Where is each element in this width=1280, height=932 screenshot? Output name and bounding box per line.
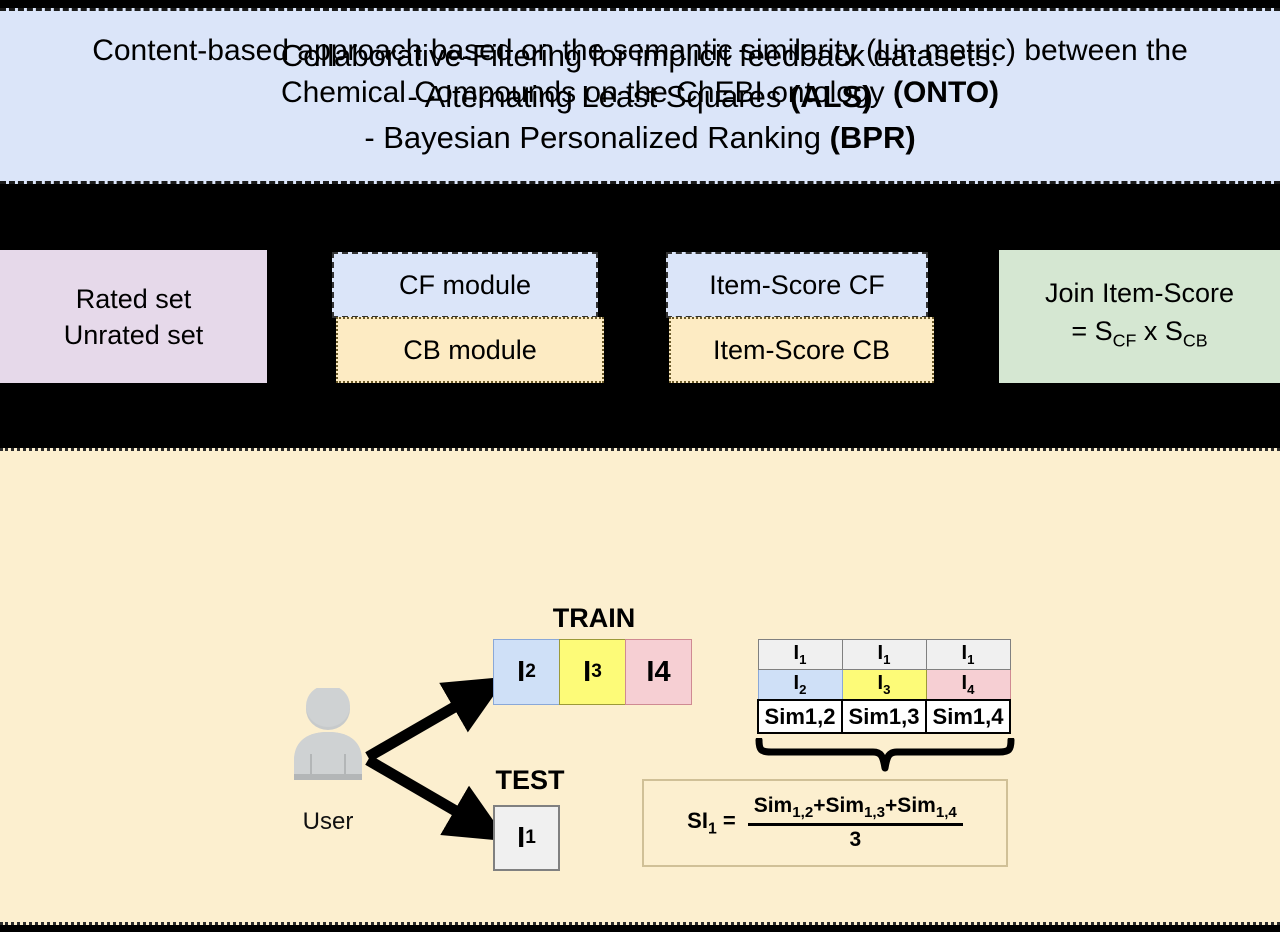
cb-module-box: CB module [336,317,604,383]
si-formula-lhs: SI1 = [687,808,736,838]
cf-banner-bpr-tag: (BPR) [830,120,916,155]
cf-module-box: CF module [332,252,598,318]
si-formula-fraction: Sim1,2+Sim1,3+Sim1,4 3 [748,794,963,852]
test-item-i1-sub: 1 [525,827,536,849]
curly-brace-icon [745,738,1025,774]
similarity-table: I1 I1 I1 I2 I3 I4 Sim1,2 Sim1,3 Sim1,4 [757,639,1011,734]
content-based-heading-line-2-text: Chemical Compounds on the ChEBI ontology [281,76,893,109]
num-term-1: Sim [754,794,793,817]
join-item-score-formula: = SCF x SCB [1071,312,1207,359]
test-item-i1: I1 [493,805,560,871]
sim-cell-top-2: I1 [842,640,926,670]
test-label: TEST [480,765,580,796]
num-term-2: +Sim [813,794,864,817]
sim-cell-top-3-sub: 1 [967,652,974,667]
cf-module-label: CF module [399,270,531,301]
item-score-cb-box: Item-Score CB [669,317,934,383]
si-formula-box: SI1 = Sim1,2+Sim1,3+Sim1,4 3 [642,779,1008,867]
sim-cell-mid-1: I2 [758,670,842,701]
join-item-score-box: Join Item-Score = SCF x SCB [999,250,1280,383]
item-score-stack: Item-Score CF Item-Score CB [666,252,934,383]
join-sub-cb: CB [1183,330,1208,350]
sim-cell-bot-3: Sim1,4 [926,700,1010,733]
cf-banner-line-3-text: - Bayesian Personalized Ranking [364,120,829,155]
train-item-i3-base: I [583,656,591,689]
num-term-3: +Sim [885,794,936,817]
sim-cell-mid-3-sub: 4 [967,682,974,697]
sim-cell-mid-2: I3 [842,670,926,701]
onto-tag: (ONTO) [893,76,999,109]
table-row-target-items: I1 I1 I1 [758,640,1010,670]
item-score-cf-label: Item-Score CF [709,270,885,301]
train-item-i4-base: I4 [646,656,670,689]
num-term-2-sub: 1,3 [864,804,885,821]
content-based-heading: Content-based approach based on the sema… [0,30,1280,114]
join-eq: = S [1071,316,1112,346]
item-score-cf-box: Item-Score CF [666,252,928,318]
num-term-3-sub: 1,4 [936,804,957,821]
train-item-i3-sub: 3 [591,661,602,683]
sim-cell-top-3: I1 [926,640,1010,670]
train-item-i2: I2 [493,639,560,705]
si-formula-denominator: 3 [849,826,861,852]
join-sub-cf: CF [1113,330,1137,350]
diagram-canvas: Collaborative-Filtering for implicit fee… [0,0,1280,932]
rated-set-label: Rated set [76,281,192,317]
si-formula-lhs-base: SI [687,808,708,833]
test-item-i1-base: I [517,822,525,855]
sim-cell-top-2-sub: 1 [883,652,890,667]
num-term-1-sub: 1,2 [792,804,813,821]
sim-cell-bot-1: Sim1,2 [758,700,842,733]
sim-cell-top-1-sub: 1 [799,652,806,667]
train-item-i2-sub: 2 [525,661,536,683]
table-row-similarity-values: Sim1,2 Sim1,3 Sim1,4 [758,700,1010,733]
cb-module-label: CB module [403,335,537,366]
si-formula-equals: = [717,808,736,833]
train-label: TRAIN [493,603,695,634]
sim-cell-mid-1-sub: 2 [799,682,806,697]
train-item-row: I2 I3 I4 [493,639,692,705]
sim-cell-mid-2-sub: 3 [883,682,890,697]
table-row-train-items: I2 I3 I4 [758,670,1010,701]
cf-banner-line-3: - Bayesian Personalized Ranking (BPR) [364,117,915,158]
user-icon [286,688,370,784]
train-item-i3: I3 [559,639,626,705]
si-formula-lhs-sub: 1 [708,820,717,837]
si-formula: SI1 = Sim1,2+Sim1,3+Sim1,4 3 [687,794,963,852]
unrated-set-label: Unrated set [64,317,204,353]
rated-unrated-set-box: Rated set Unrated set [0,250,267,383]
join-times: x S [1136,316,1183,346]
content-based-heading-line-1: Content-based approach based on the sema… [0,30,1280,72]
si-formula-numerator: Sim1,2+Sim1,3+Sim1,4 [748,794,963,823]
user-label: User [276,808,380,836]
sim-cell-mid-3: I4 [926,670,1010,701]
sim-cell-bot-2: Sim1,3 [842,700,926,733]
item-score-cb-label: Item-Score CB [713,335,890,366]
sim-cell-top-1: I1 [758,640,842,670]
module-stack: CF module CB module [332,252,604,383]
train-item-i2-base: I [517,656,525,689]
content-based-heading-line-2: Chemical Compounds on the ChEBI ontology… [0,72,1280,114]
train-item-i4: I4 [625,639,692,705]
join-item-score-title: Join Item-Score [1045,274,1234,312]
